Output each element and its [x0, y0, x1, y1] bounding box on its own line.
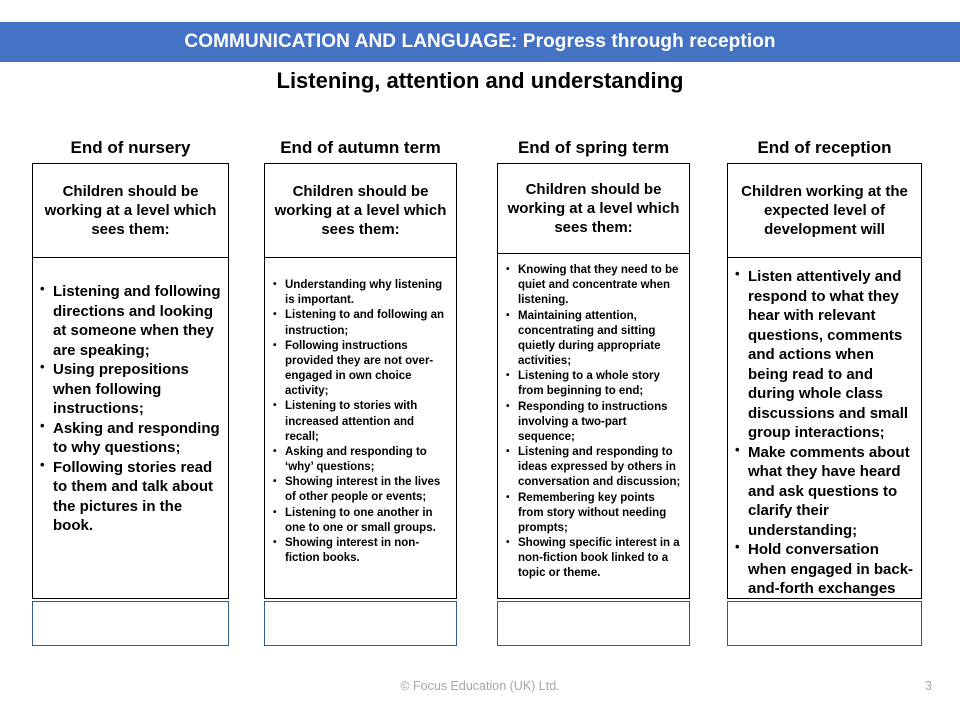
column-intro-text: Children should be working at a level wh… — [39, 182, 222, 240]
column-intro-cell: Children should be working at a level wh… — [33, 164, 228, 258]
list-item: Knowing that they need to be quiet and c… — [502, 263, 683, 309]
column-body: Children should be working at a level wh… — [32, 163, 229, 599]
column-intro-cell: Children should be working at a level wh… — [265, 164, 456, 258]
page-number: 3 — [925, 679, 932, 693]
slide-subtitle: Listening, attention and understanding — [0, 68, 960, 94]
list-item: Asking and responding to ‘why’ questions… — [269, 445, 450, 475]
column-body: Children working at the expected level o… — [727, 163, 922, 599]
banner-title: COMMUNICATION AND LANGUAGE: Progress thr… — [184, 31, 775, 53]
list-item: Listening and responding to ideas expres… — [502, 445, 683, 491]
list-item: Listening to one another in one to one o… — [269, 506, 450, 536]
column-end-of-spring-term: End of spring term Children should be wo… — [497, 137, 690, 599]
column-intro-text: Children working at the expected level o… — [734, 182, 915, 240]
list-item: Showing interest in non-fiction books. — [269, 536, 450, 566]
column-heading: End of nursery — [32, 137, 229, 163]
list-item: Listening and following directions and l… — [37, 282, 222, 360]
list-item: Make comments about what they have heard… — [732, 443, 915, 541]
column-end-of-nursery: End of nursery Children should be workin… — [32, 137, 229, 599]
list-item: Listening to and following an instructio… — [269, 308, 450, 338]
list-item: Remembering key points from story withou… — [502, 491, 683, 537]
column-body: Children should be working at a level wh… — [264, 163, 457, 599]
criteria-list: Listening and following directions and l… — [37, 282, 222, 536]
column-list-cell: Listening and following directions and l… — [33, 258, 228, 599]
column-heading: End of reception — [727, 137, 922, 163]
footer-box-nursery — [32, 601, 229, 646]
column-intro-cell: Children should be working at a level wh… — [498, 164, 689, 254]
column-body: Children should be working at a level wh… — [497, 163, 690, 599]
list-item: Following instructions provided they are… — [269, 339, 450, 400]
column-list-cell: Listen attentively and respond to what t… — [728, 258, 921, 599]
list-item: Listening to a whole story from beginnin… — [502, 369, 683, 399]
criteria-list: Understanding why listening is important… — [269, 278, 450, 566]
column-end-of-reception: End of reception Children working at the… — [727, 137, 922, 599]
list-item: Listening to stories with increased atte… — [269, 399, 450, 445]
footer-box-reception — [727, 601, 922, 646]
list-item: Showing specific interest in a non-ficti… — [502, 536, 683, 582]
footer-box-spring — [497, 601, 690, 646]
slide-banner: COMMUNICATION AND LANGUAGE: Progress thr… — [0, 22, 960, 62]
column-heading: End of spring term — [497, 137, 690, 163]
list-item: Understanding why listening is important… — [269, 278, 450, 308]
list-item: Following stories read to them and talk … — [37, 458, 222, 536]
column-list-cell: Understanding why listening is important… — [265, 258, 456, 599]
column-intro-cell: Children working at the expected level o… — [728, 164, 921, 258]
column-intro-text: Children should be working at a level wh… — [271, 182, 450, 240]
column-list-cell: Knowing that they need to be quiet and c… — [498, 254, 689, 599]
list-item: Maintaining attention, concentrating and… — [502, 309, 683, 370]
list-item: Using prepositions when following instru… — [37, 360, 222, 419]
list-item: Showing interest in the lives of other p… — [269, 475, 450, 505]
column-intro-text: Children should be working at a level wh… — [504, 180, 683, 238]
column-heading: End of autumn term — [264, 137, 457, 163]
list-item: Responding to instructions involving a t… — [502, 400, 683, 446]
list-item: Asking and responding to why questions; — [37, 419, 222, 458]
column-end-of-autumn-term: End of autumn term Children should be wo… — [264, 137, 457, 599]
criteria-list: Knowing that they need to be quiet and c… — [502, 263, 683, 582]
criteria-list: Listen attentively and respond to what t… — [732, 267, 915, 638]
footer-box-autumn — [264, 601, 457, 646]
list-item: Listen attentively and respond to what t… — [732, 267, 915, 443]
copyright-notice: © Focus Education (UK) Ltd. — [0, 679, 960, 693]
